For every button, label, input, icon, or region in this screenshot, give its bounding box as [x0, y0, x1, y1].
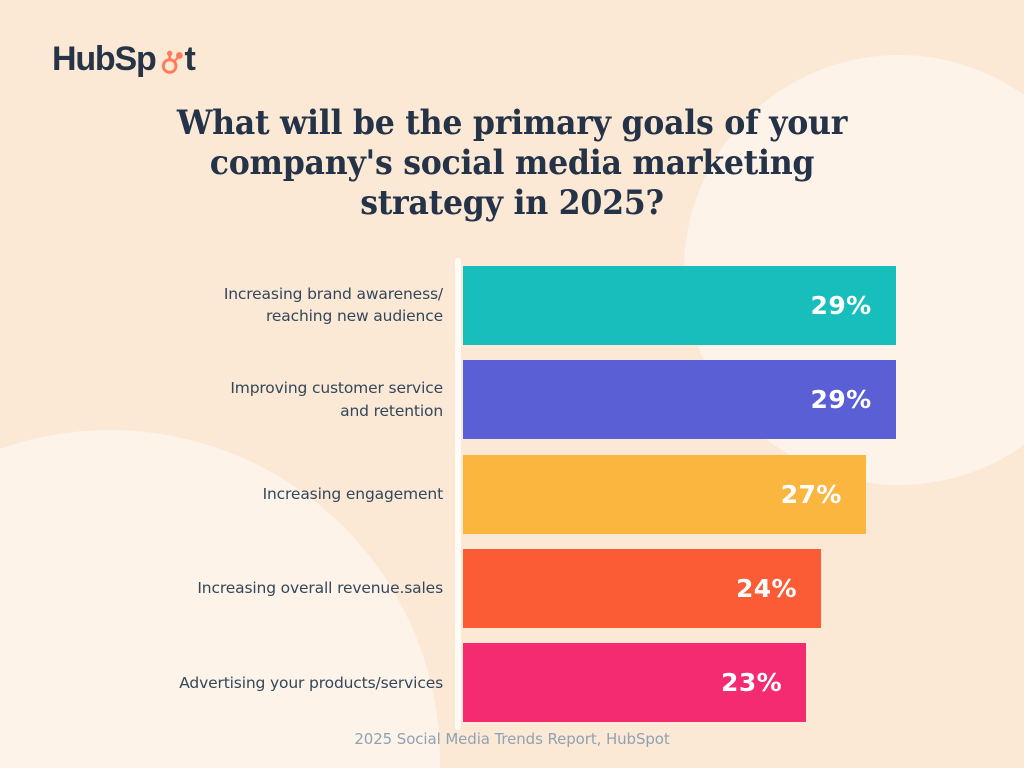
bar-category-label: Improving customer service and retention — [0, 377, 443, 422]
bar-track: 23% — [463, 643, 806, 722]
bar-track: 29% — [463, 266, 896, 345]
bar-value-label: 29% — [811, 291, 872, 320]
bar-value-label: 29% — [811, 385, 872, 414]
chart-rows: Increasing brand awareness/ reaching new… — [0, 258, 1024, 730]
chart-source-caption: 2025 Social Media Trends Report, HubSpot — [0, 730, 1024, 748]
bar-segment[interactable]: 27% — [463, 455, 866, 534]
bar-segment[interactable]: 23% — [463, 643, 806, 722]
bar-track: 29% — [463, 360, 896, 439]
bar-segment[interactable]: 29% — [463, 266, 896, 345]
chart-row: Increasing engagement 27% — [0, 447, 1024, 541]
chart-row: Increasing brand awareness/ reaching new… — [0, 258, 1024, 352]
bar-segment[interactable]: 24% — [463, 549, 821, 628]
bar-segment[interactable]: 29% — [463, 360, 896, 439]
bar-value-label: 23% — [721, 668, 782, 697]
hubspot-sprocket-icon — [157, 50, 184, 77]
chart-row: Improving customer service and retention… — [0, 352, 1024, 446]
chart-row: Advertising your products/services 23% — [0, 636, 1024, 730]
bar-category-label: Increasing engagement — [0, 483, 443, 505]
bar-value-label: 27% — [781, 480, 842, 509]
bar-track: 24% — [463, 549, 821, 628]
bar-category-label: Increasing brand awareness/ reaching new… — [0, 283, 443, 328]
bar-category-label: Increasing overall revenue.sales — [0, 577, 443, 599]
bar-category-label: Advertising your products/services — [0, 672, 443, 694]
logo-text-before: HubSp — [52, 42, 156, 76]
bar-value-label: 24% — [736, 574, 797, 603]
page-title: What will be the primary goals of your c… — [36, 104, 988, 223]
bar-track: 27% — [463, 455, 866, 534]
hubspot-logo: HubSpt — [52, 42, 195, 76]
bar-chart: Increasing brand awareness/ reaching new… — [0, 258, 1024, 730]
logo-text-after: t — [185, 42, 195, 76]
chart-row: Increasing overall revenue.sales 24% — [0, 541, 1024, 635]
